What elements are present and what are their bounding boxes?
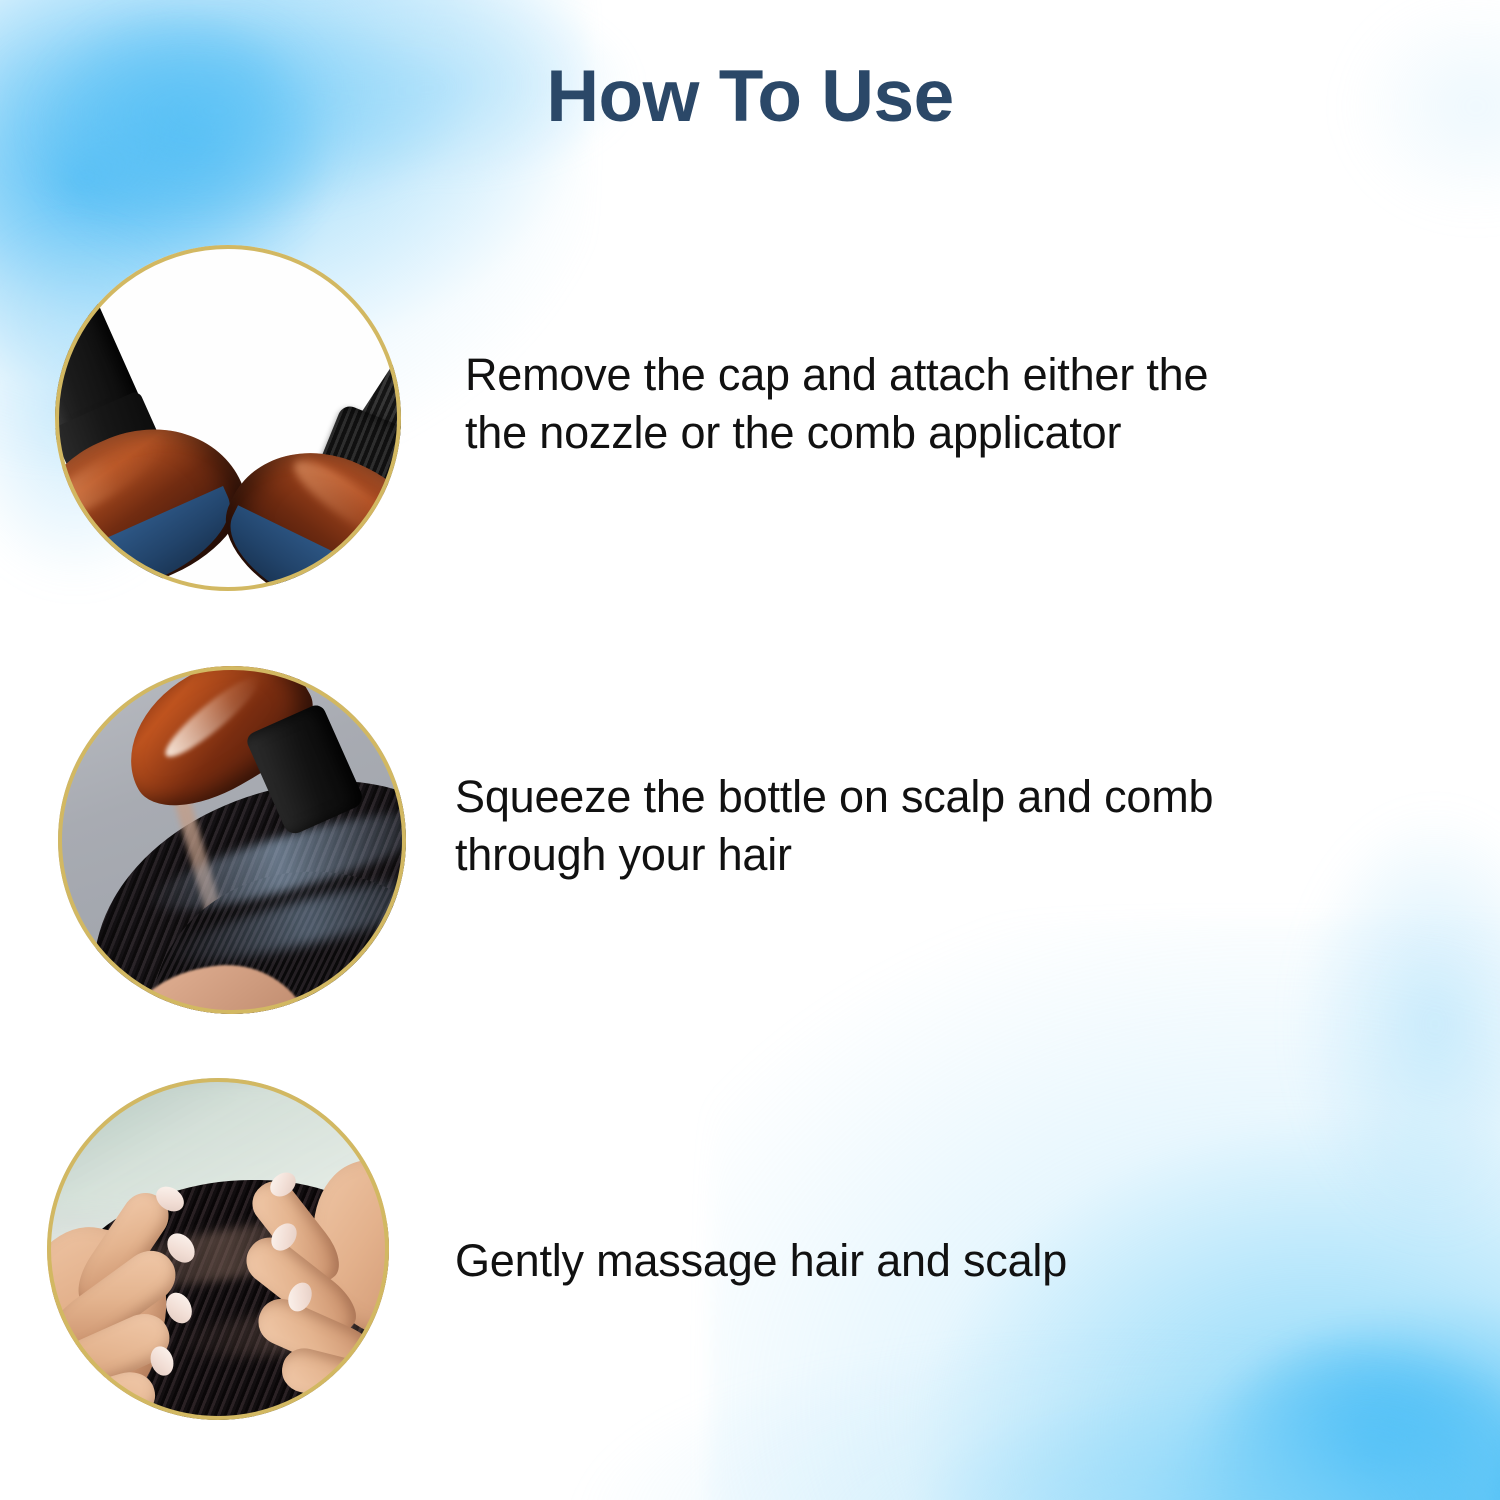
step-3-text: Gently massage hair and scalp bbox=[455, 1232, 1385, 1290]
step-1-text: Remove the cap and attach either the the… bbox=[465, 346, 1395, 461]
how-to-use-steps-list: Remove the cap and attach either the the… bbox=[0, 0, 1500, 1500]
step-1-thumbnail bbox=[55, 245, 401, 591]
massaging-scalp-photo bbox=[47, 1078, 389, 1420]
step-3-thumbnail bbox=[47, 1078, 389, 1420]
step-2-thumbnail bbox=[58, 666, 406, 1014]
page-title: How To Use bbox=[0, 55, 1500, 138]
step-2-text: Squeeze the bottle on scalp and comb thr… bbox=[455, 768, 1385, 883]
applying-to-scalp-photo bbox=[58, 666, 406, 1014]
applicator-attachments-photo bbox=[55, 245, 401, 591]
